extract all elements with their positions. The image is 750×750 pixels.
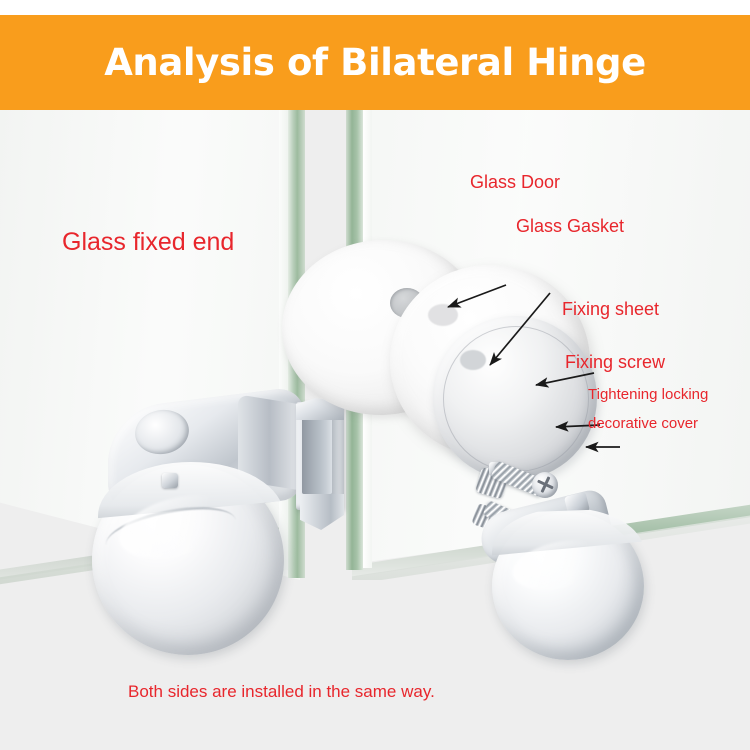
glass-gasket-front-mark xyxy=(428,304,458,326)
fixing-sheet-ring xyxy=(443,326,589,472)
label-tightening-locking-line2: decorative cover xyxy=(588,415,698,432)
label-glass-fixed-end: Glass fixed end xyxy=(62,228,234,257)
screenshot-root: Analysis of Bilateral Hinge xyxy=(0,0,750,750)
label-fixing-screw: Fixing screw xyxy=(565,352,665,373)
label-glass-gasket: Glass Gasket xyxy=(516,216,624,237)
fixing-sheet-notch xyxy=(460,350,486,370)
header-banner: Analysis of Bilateral Hinge xyxy=(0,15,750,110)
center-clamp-face xyxy=(302,410,332,494)
page-title: Analysis of Bilateral Hinge xyxy=(104,41,646,84)
label-fixing-sheet: Fixing sheet xyxy=(562,299,659,320)
label-tightening-locking-line1: Tightening locking xyxy=(588,386,708,403)
label-glass-door: Glass Door xyxy=(470,172,560,193)
center-clamp-lower xyxy=(300,494,344,530)
left-cover-screw-stud xyxy=(162,473,178,488)
footer-note: Both sides are installed in the same way… xyxy=(128,682,435,702)
